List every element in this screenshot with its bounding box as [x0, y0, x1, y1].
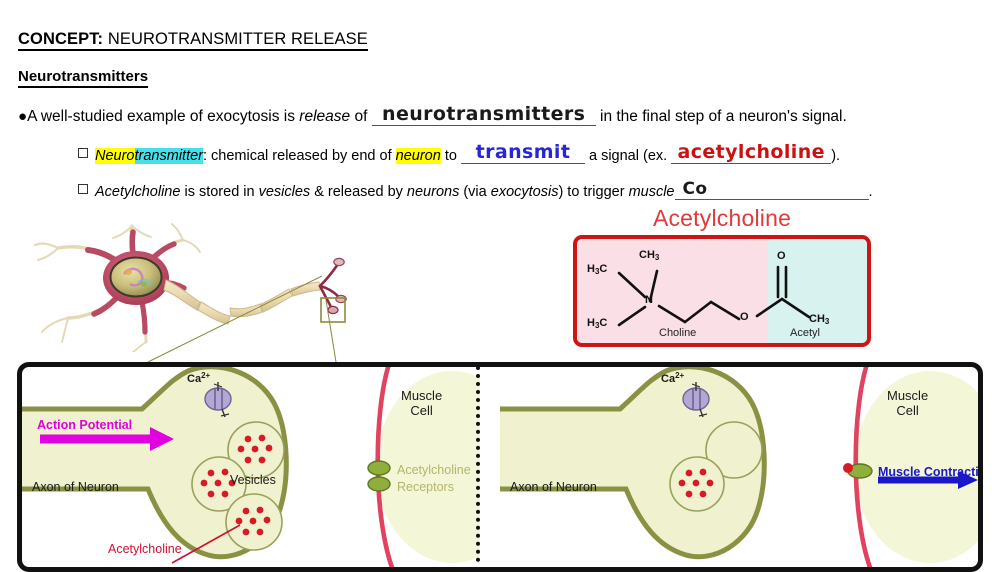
concept-title: NEUROTRANSMITTER RELEASE: [108, 30, 368, 48]
line2-text-b: to: [441, 148, 461, 164]
atom-label-oxygen-ester: O: [740, 311, 749, 323]
atom-label-ch3-right: CH3: [809, 313, 829, 326]
line3-text-e: .: [869, 184, 873, 200]
page-title: CONCEPT: NEUROTRANSMITTER RELEASE: [18, 30, 368, 49]
label-axon-right: Axon of Neuron: [510, 480, 597, 494]
label-acetylcholine-receptors: Acetylcholine Receptors: [397, 462, 471, 496]
label-acetylcholine-left: Acetylcholine: [108, 542, 182, 556]
line3-italic-acetylcholine: Acetylcholine: [95, 184, 180, 200]
line2-term-transmitter: transmitter: [135, 148, 204, 164]
line1-italic-release: release: [299, 108, 350, 125]
line2-term-neuro: Neuro: [95, 148, 135, 164]
line3-italic-muscle: muscle: [629, 184, 675, 200]
line2-text-a: : chemical released by end of: [203, 148, 396, 164]
atom-label-oxygen-carbonyl: O: [777, 250, 786, 262]
line2-text-c: a signal (ex.: [585, 148, 671, 164]
atom-label-h3c-lower: H3C: [587, 317, 607, 330]
slide-canvas: CONCEPT: NEUROTRANSMITTER RELEASE Neurot…: [0, 0, 1000, 562]
structure-diagram: CH3 H3C H3C N O O CH3 Choline Acetyl: [573, 235, 871, 347]
atom-label-h3c-upper: H3C: [587, 263, 607, 276]
label-calcium-left: Ca2+: [187, 371, 210, 385]
atom-label-ch3-top: CH3: [639, 249, 659, 262]
label-muscle-cell-right: Muscle Cell: [887, 389, 928, 419]
concept-label: CONCEPT:: [18, 30, 103, 48]
line3-italic-vesicles: vesicles: [259, 184, 311, 200]
line3-text-a: is stored in: [180, 184, 258, 200]
note-line-2: Neurotransmitter: chemical released by e…: [78, 141, 840, 164]
bound-receptor-icons: [843, 463, 872, 478]
blank-answer-contraction[interactable]: Co: [675, 179, 869, 200]
synapse-diagram-panel: Ca2+ Action Potential Axon of Neuron Ves…: [17, 362, 983, 572]
line1-text-a: A well-studied example of exocytosis is: [27, 108, 299, 125]
note-line-3: Acetylcholine is stored in vesicles & re…: [78, 179, 873, 200]
label-action-potential: Action Potential: [37, 418, 132, 432]
label-vesicles: Vesicles: [230, 473, 276, 487]
section-heading: Neurotransmitters: [18, 68, 148, 85]
bond-lines: [577, 239, 867, 343]
atom-label-nitrogen: N: [645, 294, 653, 306]
line1-text-c: in the final step of a neuron's signal.: [596, 108, 847, 125]
line3-text-c: (via: [459, 184, 490, 200]
label-axon-left: Axon of Neuron: [32, 480, 119, 494]
blank-answer-transmit[interactable]: transmit: [461, 141, 585, 164]
line3-text-d: ) to trigger: [558, 184, 628, 200]
blank-answer-neurotransmitters[interactable]: neurotransmitters: [372, 103, 596, 126]
line3-text-b: & released by: [310, 184, 407, 200]
structure-card-title: Acetylcholine: [573, 205, 871, 232]
line2-text-d: ).: [831, 148, 840, 164]
line1-text-b: of: [350, 108, 372, 125]
region-label-choline: Choline: [659, 327, 696, 339]
bullet-icon: ●: [18, 108, 27, 125]
checkbox-icon: [78, 184, 88, 194]
label-muscle-cell-left: Muscle Cell: [401, 389, 442, 419]
line3-italic-exocytosis: exocytosis: [491, 184, 559, 200]
neuron-illustration: [20, 222, 350, 352]
line3-italic-neurons: neurons: [407, 184, 459, 200]
blank-answer-acetylcholine[interactable]: acetylcholine: [671, 141, 831, 164]
label-muscle-contraction: Muscle Contraction: [878, 465, 983, 479]
line2-highlight-neuron: neuron: [396, 148, 441, 164]
acetylcholine-structure-card: Acetylcholine: [573, 205, 871, 347]
checkbox-icon: [78, 148, 88, 158]
panel-divider: [476, 366, 480, 562]
note-line-1: ●A well-studied example of exocytosis is…: [18, 103, 847, 126]
region-label-acetyl: Acetyl: [790, 327, 820, 339]
label-calcium-right: Ca2+: [661, 371, 684, 385]
